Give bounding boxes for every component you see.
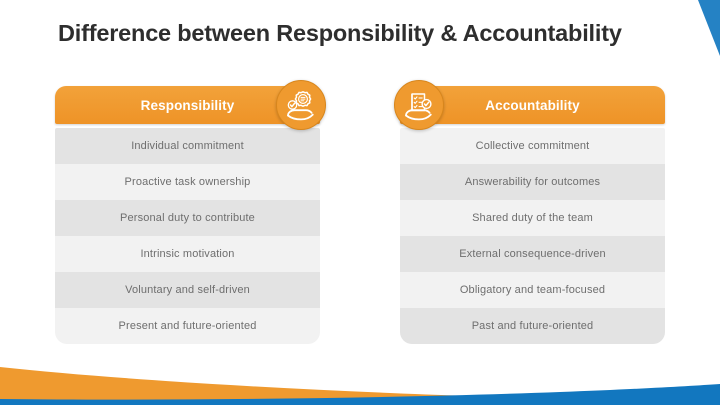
list-item: Past and future-oriented — [400, 308, 665, 344]
hand-holding-gear-check-icon — [276, 80, 326, 130]
column-header-label-accountability: Accountability — [485, 98, 579, 113]
orange-wave-shape — [0, 367, 720, 405]
list-item: Collective commitment — [400, 128, 665, 164]
column-body-responsibility: Individual commitment Proactive task own… — [55, 128, 320, 344]
column-header-accountability: Accountability — [400, 86, 665, 124]
column-responsibility: Responsibility — [55, 86, 320, 344]
column-accountability: Accountability — [400, 86, 665, 344]
column-body-accountability: Collective commitment Answerability for … — [400, 128, 665, 344]
list-item: Voluntary and self-driven — [55, 272, 320, 308]
hand-holding-checklist-icon — [394, 80, 444, 130]
column-header-responsibility: Responsibility — [55, 86, 320, 124]
list-item: Shared duty of the team — [400, 200, 665, 236]
list-item: Answerability for outcomes — [400, 164, 665, 200]
corner-accent-triangle — [698, 0, 720, 56]
column-header-label-responsibility: Responsibility — [141, 98, 235, 113]
list-item: Individual commitment — [55, 128, 320, 164]
list-item: Obligatory and team-focused — [400, 272, 665, 308]
list-item: Present and future-oriented — [55, 308, 320, 344]
list-item: Intrinsic motivation — [55, 236, 320, 272]
page-title: Difference between Responsibility & Acco… — [58, 20, 678, 47]
blue-wave-shape — [0, 384, 720, 405]
list-item: Proactive task ownership — [55, 164, 320, 200]
list-item: External consequence-driven — [400, 236, 665, 272]
list-item: Personal duty to contribute — [55, 200, 320, 236]
